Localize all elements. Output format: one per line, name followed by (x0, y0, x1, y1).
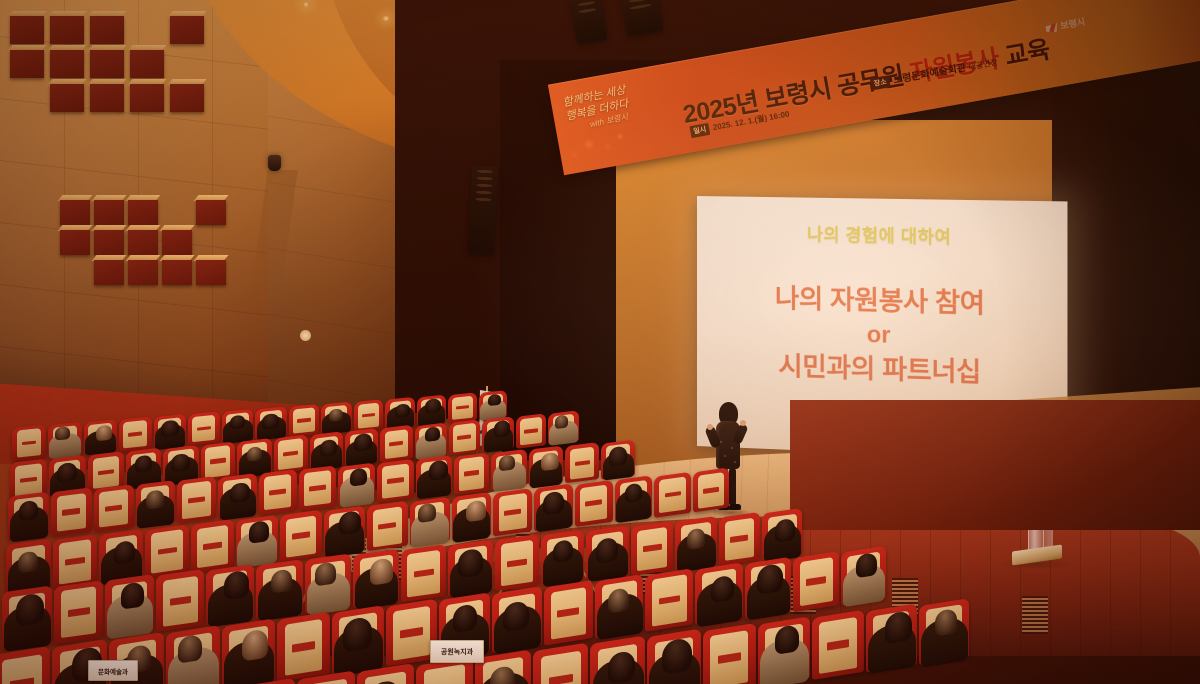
theater-seat[interactable] (2, 585, 52, 650)
wall-speaker-icon (300, 330, 311, 341)
audience-member-head (466, 499, 486, 522)
banner-logo-text: 보령시 (1060, 17, 1086, 31)
line-array-speaker-icon (571, 0, 608, 44)
acoustic-block (50, 16, 84, 44)
theater-seat[interactable] (297, 671, 355, 684)
acoustic-block (130, 50, 164, 78)
audience-member-head (121, 582, 144, 610)
acoustic-block-panel-upper (10, 16, 210, 126)
theater-seat[interactable] (357, 663, 415, 684)
theater-seat[interactable] (48, 422, 82, 458)
theater-seat[interactable] (812, 610, 864, 680)
audience-member-head (418, 503, 436, 524)
audience-member-head (135, 454, 152, 472)
seat-pad (424, 664, 465, 684)
boryeong-logo-icon (1045, 23, 1058, 34)
theater-seat[interactable] (647, 629, 701, 684)
theater-seat[interactable] (758, 616, 810, 684)
auditorium-scene: 함께하는 세상 행복을 더하다 with 보령시 2025년 보령시 공무원 자… (0, 0, 1200, 684)
acoustic-block (60, 200, 90, 225)
audience-member-head (161, 419, 179, 437)
audience-member-head (247, 446, 262, 462)
banner-title-suffix: 교육 (996, 36, 1052, 73)
audience-member-head (249, 520, 269, 543)
acoustic-block (196, 260, 226, 285)
slide-title: 나의 경험에 대하여 (807, 220, 951, 248)
theater-seat[interactable] (703, 623, 756, 684)
audience-member-head (499, 454, 514, 471)
banner-date-tag: 일시 (689, 123, 710, 138)
theater-seat[interactable] (105, 574, 154, 637)
audience-member-head (262, 413, 279, 429)
theater-seat[interactable] (94, 484, 134, 532)
audience-member-head (354, 432, 372, 452)
audience-member-head (320, 439, 337, 457)
banner-title-prefix: 2025년 보령시 공무원 (681, 61, 913, 129)
acoustic-block (10, 16, 44, 44)
theater-seat[interactable] (590, 636, 645, 684)
slide-body: 나의 자원봉사 참여 or 시민과의 파트너십 (775, 283, 985, 388)
acoustic-block (60, 230, 90, 255)
audience-member-head (19, 499, 38, 520)
acoustic-block (10, 50, 44, 78)
audience-member-head (350, 467, 367, 486)
audience-member-head (57, 461, 77, 483)
theater-seat[interactable] (54, 580, 103, 644)
line-array-speaker-icon (468, 165, 499, 254)
audience-member-head (329, 408, 342, 421)
audience-member-head (230, 414, 245, 429)
theater-seat[interactable] (0, 646, 50, 684)
ceiling-downlight-icon (382, 16, 390, 21)
slide-line-1: 나의 자원봉사 참여 (775, 283, 985, 319)
audience-member-head (146, 490, 163, 509)
audience-member-head (429, 460, 448, 481)
seat-placard: 공원녹지과 (430, 640, 484, 663)
audience-member-head (370, 558, 393, 586)
acoustic-block (162, 230, 192, 255)
theater-seat[interactable] (84, 419, 117, 455)
theater-seat[interactable] (533, 642, 588, 684)
theater-seat[interactable] (866, 604, 917, 673)
acoustic-block (130, 84, 164, 112)
acoustic-block (196, 200, 226, 225)
acoustic-block (162, 260, 192, 285)
theater-seat[interactable] (8, 492, 49, 541)
acoustic-block (94, 230, 124, 255)
audience-member-head (178, 634, 202, 663)
acoustic-block (128, 230, 158, 255)
banner-city-logo: 보령시 (1045, 15, 1087, 35)
acoustic-block (128, 200, 158, 225)
acoustic-block (90, 16, 124, 44)
audience-member-head (555, 415, 568, 429)
seat-pad (305, 679, 347, 684)
seat-placard: 문화예술과 (88, 660, 138, 681)
acoustic-block (94, 260, 124, 285)
line-array-speaker-icon (621, 0, 663, 37)
acoustic-block (50, 84, 84, 112)
acoustic-block (170, 84, 204, 112)
audience-member-head (96, 424, 113, 441)
acoustic-block (90, 84, 124, 112)
audience-member-head (18, 550, 38, 573)
acoustic-block-panel-lower (60, 200, 220, 300)
acoustic-block (90, 50, 124, 78)
audience-member-head (425, 426, 440, 442)
audience-seating (0, 408, 1060, 684)
theater-seat[interactable] (919, 598, 969, 666)
audience-member-head (230, 482, 249, 503)
audience-member-head (315, 561, 335, 586)
theater-seat[interactable] (236, 678, 295, 684)
audience-member-head (271, 569, 292, 594)
slide-line-3: 시민과의 파트너십 (775, 350, 985, 388)
audience-member-head (339, 510, 361, 535)
audience-member-head (171, 453, 190, 473)
theater-seat[interactable] (12, 425, 46, 462)
audience-member-head (458, 548, 483, 578)
acoustic-block (170, 16, 204, 44)
ceiling-downlight-icon (302, 2, 310, 7)
wall-camera-icon (268, 155, 281, 171)
acoustic-block (50, 50, 84, 78)
slide-line-2: or (775, 318, 985, 351)
theater-seat[interactable] (166, 625, 220, 684)
theater-seat[interactable] (136, 480, 176, 527)
theater-seat[interactable] (51, 488, 92, 536)
acoustic-block (94, 200, 124, 225)
audience-member-head (935, 609, 957, 637)
acoustic-block (128, 260, 158, 285)
